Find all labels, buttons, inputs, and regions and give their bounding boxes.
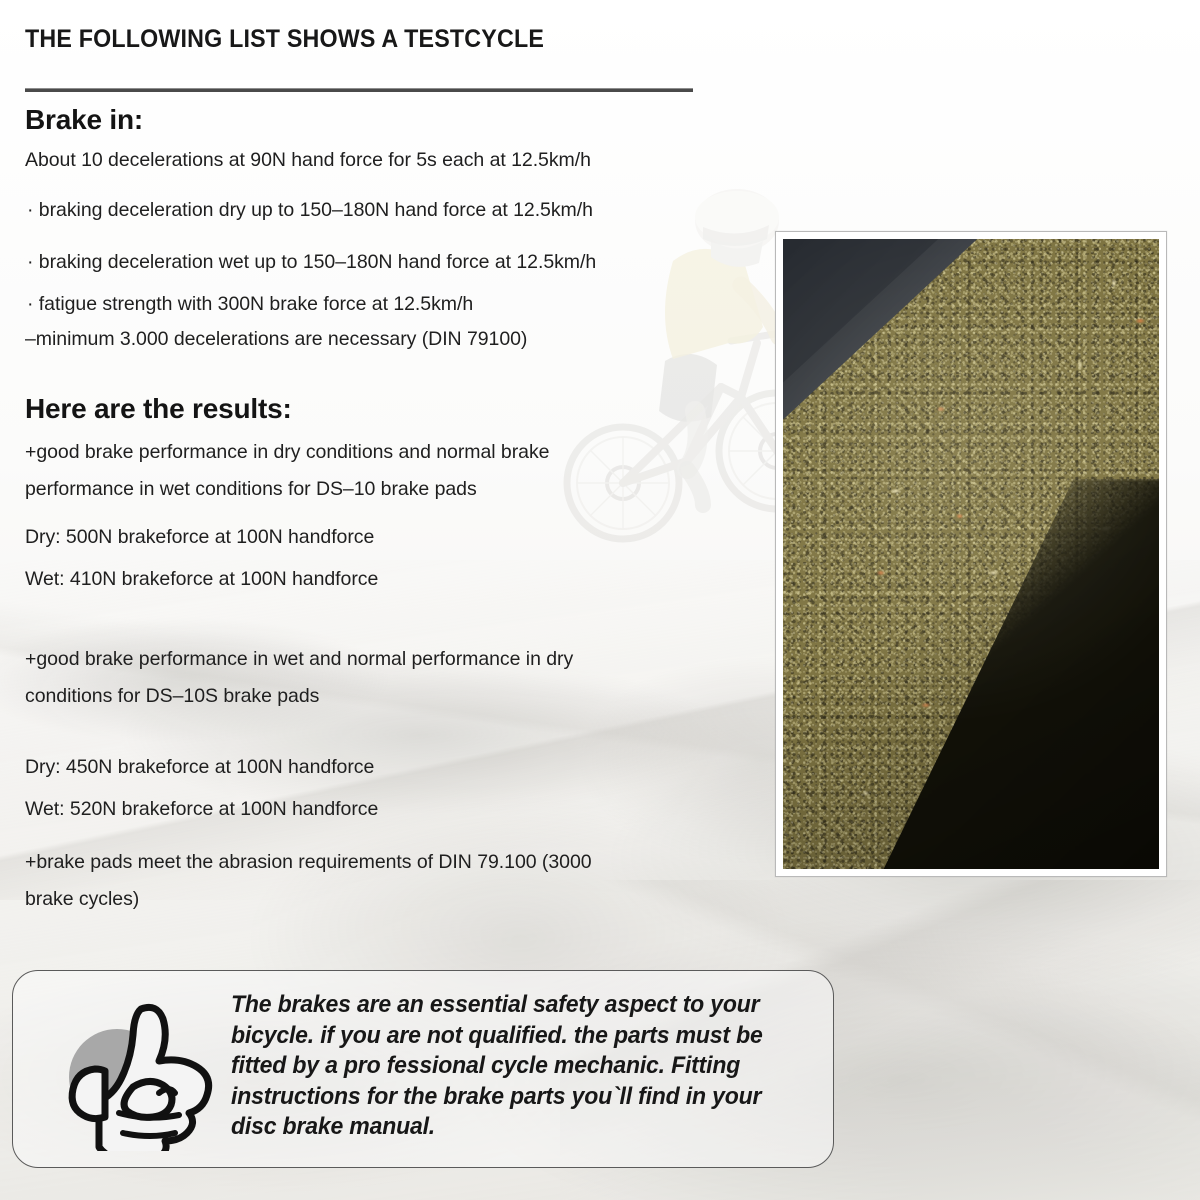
safety-callout-box: The brakes are an essential safety aspec…: [12, 970, 834, 1168]
title-divider: [25, 88, 693, 92]
ds10s-claim-line-2: conditions for DS–10S brake pads: [25, 684, 319, 708]
section-heading-results: Here are the results:: [25, 393, 292, 425]
callout-line-3: fitted by a pro fessional cycle mechanic…: [231, 1051, 797, 1082]
callout-line-4: instructions for the brake parts you`ll …: [231, 1082, 797, 1113]
ds10-dry-value: Dry: 500N brakeforce at 100N handforce: [25, 525, 374, 549]
section-heading-brake-in: Brake in:: [25, 104, 143, 136]
pad-photo-shading: [783, 239, 1159, 869]
abrasion-line-2: brake cycles): [25, 887, 139, 911]
document-page: THE FOLLOWING LIST SHOWS A TESTCYCLE Bra…: [0, 0, 1200, 1200]
thumbs-up-icon: [55, 991, 225, 1151]
callout-line-2: bicycle. if you are not qualified. the p…: [231, 1021, 797, 1052]
brake-in-bullet-fatigue: · fatigue strength with 300N brake force…: [27, 292, 473, 316]
ds10-claim-line-2: performance in wet conditions for DS–10 …: [25, 477, 477, 501]
brake-pad-photo-frame: [775, 231, 1167, 877]
ds10s-wet-value: Wet: 520N brakeforce at 100N handforce: [25, 797, 378, 821]
brake-in-bullet-dry: · braking deceleration dry up to 150–180…: [27, 198, 593, 222]
page-title: THE FOLLOWING LIST SHOWS A TESTCYCLE: [25, 25, 544, 54]
ds10-claim-line-1: +good brake performance in dry condition…: [25, 440, 549, 464]
brake-in-bullet-wet: · braking deceleration wet up to 150–180…: [27, 250, 596, 274]
safety-callout-text: The brakes are an essential safety aspec…: [231, 990, 797, 1143]
brake-in-intro: About 10 decelerations at 90N hand force…: [25, 148, 591, 172]
callout-line-1: The brakes are an essential safety aspec…: [231, 990, 797, 1021]
brake-in-note: –minimum 3.000 decelerations are necessa…: [25, 327, 527, 351]
callout-line-5: disc brake manual.: [231, 1112, 797, 1143]
brake-pad-photo: [783, 239, 1159, 869]
abrasion-line-1: +brake pads meet the abrasion requiremen…: [25, 850, 592, 874]
ds10-wet-value: Wet: 410N brakeforce at 100N handforce: [25, 567, 378, 591]
ds10s-claim-line-1: +good brake performance in wet and norma…: [25, 647, 573, 671]
ds10s-dry-value: Dry: 450N brakeforce at 100N handforce: [25, 755, 374, 779]
